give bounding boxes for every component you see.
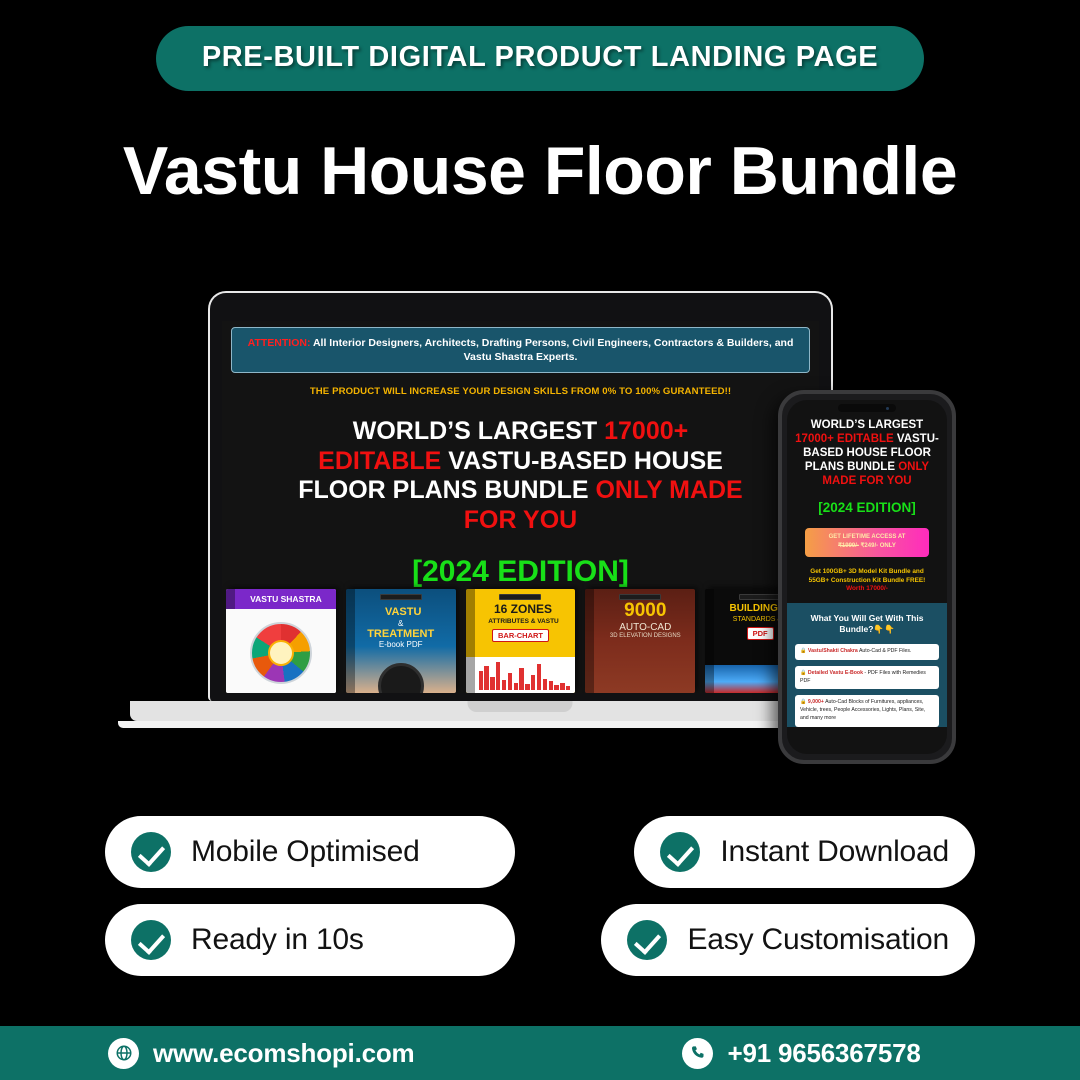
badge-container: PRE-BUILT DIGITAL PRODUCT LANDING PAGE [0, 26, 1080, 91]
list-item-title: Vastu/Shakti Chakra [808, 648, 858, 654]
feature-label: Ready in 10s [191, 923, 364, 957]
phone-headline-line-4: PLANS BUNDLE ONLY [793, 460, 941, 474]
book-subtitle: ATTRIBUTES & VASTU [466, 617, 576, 626]
headline-l2-red: EDITABLE [318, 447, 448, 475]
phone-edition-text: [2024 EDITION] [793, 500, 941, 515]
cta-line-1: GET LIFETIME ACCESS AT [807, 533, 927, 542]
lock-icon: 🔒 [800, 648, 806, 654]
book-title: 9000 [585, 600, 695, 622]
phone-number: +91 9656367578 [727, 1038, 920, 1069]
list-item-title: 9,000+ [808, 699, 824, 705]
phone-headline-line-1: WORLD’S LARGEST [793, 418, 941, 432]
check-circle-icon [131, 920, 171, 960]
feature-pill-mobile-optimised: Mobile Optimised [105, 816, 515, 888]
feature-pill-instant-download: Instant Download [634, 816, 975, 888]
list-item-title: Detailed Vastu E-Book [808, 670, 863, 676]
laptop-headline: WORLD’S LARGEST 17000+ EDITABLE VASTU-BA… [222, 417, 819, 535]
guarantee-text: THE PRODUCT WILL INCREASE YOUR DESIGN SK… [222, 386, 819, 397]
headline-line-4: FOR YOU [248, 506, 793, 536]
list-item-text: Auto-Cad & PDF Files. [858, 648, 912, 654]
phone-icon [682, 1038, 713, 1069]
feature-label: Mobile Optimised [191, 835, 420, 869]
book-tag: BAR-CHART [492, 629, 549, 642]
phone-h-l4-red: ONLY [898, 461, 929, 473]
phone-h-l2-red: 17000+ EDITABLE [795, 433, 897, 445]
book-subtitle: AUTO-CAD [585, 622, 695, 633]
book-title: VASTU SHASTRA [226, 589, 336, 609]
headline-line-2: EDITABLE VASTU-BASED HOUSE [248, 447, 793, 477]
phone-headline-line-3: BASED HOUSE FLOOR [793, 446, 941, 460]
book-subtitle: E-book PDF [346, 640, 456, 649]
list-item: 🔒 Vastu/Shakti Chakra Auto-Cad & PDF Fil… [795, 644, 939, 660]
bar-chart-graphic [466, 657, 576, 693]
book-spine [705, 589, 714, 693]
bundle-contents-panel: What You Will Get With This Bundle?👇👇 🔒 … [787, 603, 947, 727]
headline-l2-white: VASTU-BASED HOUSE [448, 447, 723, 475]
phone-h-l2-white: VASTU- [897, 433, 939, 445]
free-offer-worth: Worth 17000/- [793, 585, 941, 594]
cta-new-price: ₹249/- ONLY [861, 543, 896, 549]
feature-label: Instant Download [720, 835, 949, 869]
headline-l1-red: 17000+ [604, 417, 688, 445]
free-offer-line-1: Get 100GB+ 3D Model Kit Bundle and [810, 568, 923, 575]
headline-line-3: FLOOR PLANS BUNDLE ONLY MADE [248, 476, 793, 506]
book-cover: VASTU & TREATMENT E-book PDF [346, 589, 456, 693]
free-bundle-offer: Get 100GB+ 3D Model Kit Bundle and 55GB+… [793, 568, 941, 594]
phone-mockup: WORLD’S LARGEST 17000+ EDITABLE VASTU- B… [778, 390, 956, 764]
headline-l3-red: ONLY MADE [595, 476, 742, 504]
headline-l3-white: FLOOR PLANS BUNDLE [298, 476, 595, 504]
feature-pill-grid: Mobile Optimised Instant Download Ready … [105, 816, 975, 976]
headline-l1-white: WORLD’S LARGEST [353, 417, 604, 445]
book-amp: & [346, 619, 456, 628]
book-title-2: TREATMENT [346, 628, 456, 640]
phone-h-l4-white: PLANS BUNDLE [805, 461, 898, 473]
globe-icon [108, 1038, 139, 1069]
attention-banner: ATTENTION: All Interior Designers, Archi… [231, 327, 810, 373]
website-url: www.ecomshopi.com [153, 1038, 414, 1069]
book-cover-row: VASTU SHASTRA VASTU & TREATMENT E-book P… [222, 585, 819, 693]
check-circle-icon [131, 832, 171, 872]
phone-headline-line-5: MADE FOR YOU [793, 474, 941, 488]
cta-pricing: ₹1999/- ₹249/- ONLY [807, 542, 927, 551]
book-title: 16 ZONES [466, 600, 576, 617]
laptop-screen: ATTENTION: All Interior Designers, Archi… [222, 321, 819, 693]
book-title: VASTU [346, 600, 456, 619]
lock-icon: 🔒 [800, 670, 806, 676]
book-tag: PDF [747, 627, 774, 640]
phone-headline-line-2: 17000+ EDITABLE VASTU- [793, 432, 941, 446]
book-cover: 16 ZONES ATTRIBUTES & VASTU BAR-CHART [466, 589, 576, 693]
headline-line-1: WORLD’S LARGEST 17000+ [248, 417, 793, 447]
book-subtitle-2: 3D ELEVATION DESIGNS [585, 633, 695, 639]
book-spine [346, 589, 355, 693]
check-circle-icon [660, 832, 700, 872]
footer-phone[interactable]: +91 9656367578 [682, 1038, 920, 1069]
book-spine [585, 589, 594, 693]
phone-screen: WORLD’S LARGEST 17000+ EDITABLE VASTU- B… [787, 400, 947, 754]
footer-bar: www.ecomshopi.com +91 9656367578 [0, 1026, 1080, 1080]
poster-canvas: PRE-BUILT DIGITAL PRODUCT LANDING PAGE V… [0, 0, 1080, 1080]
cta-old-price: ₹1999/- [838, 543, 859, 549]
feature-label: Easy Customisation [687, 923, 949, 957]
book-cover: VASTU SHASTRA [226, 589, 336, 693]
attention-label: ATTENTION: [248, 337, 311, 349]
list-item: 🔒 Detailed Vastu E-Book - PDF Files with… [795, 666, 939, 690]
phone-headline: WORLD’S LARGEST 17000+ EDITABLE VASTU- B… [793, 418, 941, 488]
feature-pill-ready-in-10s: Ready in 10s [105, 904, 515, 976]
page-title: Vastu House Floor Bundle [0, 137, 1080, 205]
free-offer-line-2: 55GB+ Construction Kit Bundle FREE! [809, 577, 926, 584]
pre-built-badge: PRE-BUILT DIGITAL PRODUCT LANDING PAGE [156, 26, 924, 91]
bundle-panel-heading: What You Will Get With This Bundle?👇👇 [795, 613, 939, 636]
footer-website[interactable]: www.ecomshopi.com [108, 1038, 414, 1069]
lock-icon: 🔒 [800, 699, 806, 705]
list-item: 🔒 9,000+ Auto-Cad Blocks of Furnitures, … [795, 695, 939, 726]
vastu-chakra-icon [226, 609, 336, 693]
book-spine [466, 589, 475, 693]
check-circle-icon [627, 920, 667, 960]
feature-pill-easy-customisation: Easy Customisation [601, 904, 975, 976]
phone-speaker-notch [838, 404, 896, 412]
compass-icon [378, 663, 424, 693]
laptop-lid: ATTENTION: All Interior Designers, Archi… [208, 291, 833, 701]
device-mockup-stage: ATTENTION: All Interior Designers, Archi… [0, 285, 1080, 785]
attention-body: All Interior Designers, Architects, Draf… [310, 337, 793, 363]
laptop-mockup: ATTENTION: All Interior Designers, Archi… [208, 291, 833, 701]
get-lifetime-access-button[interactable]: GET LIFETIME ACCESS AT ₹1999/- ₹249/- ON… [805, 528, 929, 557]
book-cover: 9000 AUTO-CAD 3D ELEVATION DESIGNS [585, 589, 695, 693]
